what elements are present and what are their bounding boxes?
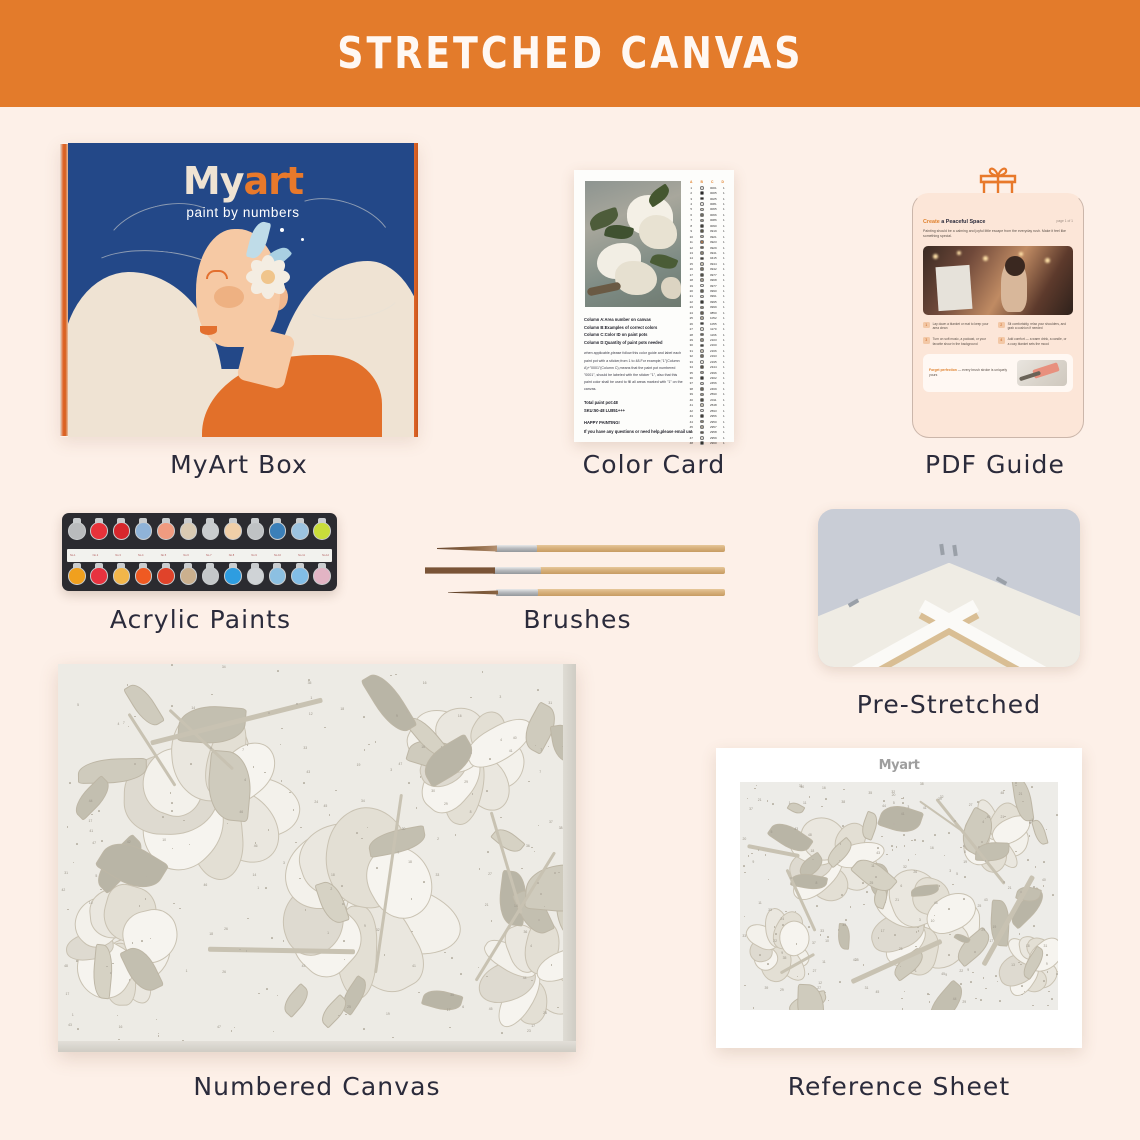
canvas-dot bbox=[908, 859, 910, 861]
canvas-dot bbox=[162, 816, 164, 818]
table-row: 1009211 bbox=[686, 234, 728, 239]
logo-art-text: art bbox=[244, 159, 304, 203]
canvas-dot bbox=[785, 911, 787, 913]
canvas-region-number: 36 bbox=[526, 844, 530, 848]
canvas-region-number: 44 bbox=[89, 799, 93, 803]
canvas-region-number: 17 bbox=[531, 1024, 535, 1028]
canvas-region-number: 7 bbox=[539, 770, 541, 774]
canvas-dot bbox=[76, 843, 78, 845]
canvas-region-number: 43 bbox=[68, 1023, 72, 1027]
canvas-region-number: 44 bbox=[882, 804, 886, 808]
canvas-region-number: 19 bbox=[386, 1012, 390, 1016]
canvas-region-number: 27 bbox=[488, 872, 492, 876]
label-numbered-canvas: Numbered Canvas bbox=[58, 1072, 576, 1101]
table-row: 1809681 bbox=[686, 277, 728, 282]
canvas-dot bbox=[964, 876, 966, 878]
canvas-region-number: 34 bbox=[222, 665, 226, 669]
canvas-dot bbox=[460, 973, 462, 975]
table-row: 1209291 bbox=[686, 245, 728, 250]
canvas-dot bbox=[1035, 866, 1037, 868]
canvas-dot bbox=[995, 975, 997, 977]
canvas-dot bbox=[754, 788, 756, 790]
canvas-dot bbox=[444, 952, 446, 954]
canvas-dot bbox=[985, 988, 987, 990]
canvas-dot bbox=[1021, 985, 1023, 987]
canvas-dot bbox=[69, 782, 71, 784]
paint-pot bbox=[223, 518, 243, 547]
canvas-region-number: 4 bbox=[500, 738, 502, 742]
canvas-dot bbox=[1019, 933, 1021, 935]
canvas-region-number: 21 bbox=[1008, 886, 1012, 890]
canvas-region-number: 4 bbox=[244, 778, 246, 782]
paint-pot bbox=[179, 518, 199, 547]
canvas-dot bbox=[420, 776, 422, 778]
label-pdf-guide: PDF Guide bbox=[870, 450, 1120, 479]
pdf-heading-accent: Create bbox=[923, 219, 940, 225]
pdf-heading-rest: a Peaceful Space bbox=[940, 219, 986, 225]
canvas-dot bbox=[101, 840, 103, 842]
canvas-dot bbox=[554, 872, 556, 874]
canvas-dot bbox=[528, 781, 530, 783]
canvas-dot bbox=[790, 877, 792, 879]
canvas-region-number: 47 bbox=[92, 841, 96, 845]
table-row: 1909771 bbox=[686, 283, 728, 288]
paint-number: No.8 bbox=[229, 554, 234, 557]
canvas-region-number: 46 bbox=[203, 883, 207, 887]
canvas-dot bbox=[902, 802, 904, 804]
table-row: 3523961 bbox=[686, 370, 728, 375]
legend-column-d: Column D:Quantity of paint pots needed bbox=[584, 339, 684, 347]
paint-pot bbox=[312, 518, 332, 547]
canvas-dot bbox=[406, 711, 408, 713]
col-d-header: D bbox=[718, 180, 729, 184]
canvas-region-number: 42 bbox=[61, 888, 65, 892]
canvas-dot bbox=[748, 855, 750, 857]
canvas-region-number: 21 bbox=[1019, 792, 1023, 796]
canvas-dot bbox=[106, 966, 108, 968]
table-row: 400811 bbox=[686, 201, 728, 206]
canvas-dot bbox=[158, 1033, 160, 1035]
canvas-dot bbox=[981, 841, 983, 843]
canvas-region-number: 29 bbox=[981, 928, 985, 932]
canvas-dot bbox=[501, 1032, 503, 1034]
canvas-dot bbox=[896, 846, 898, 848]
tip-number-icon: 1 bbox=[923, 322, 930, 329]
canvas-region-number: 8 bbox=[816, 881, 818, 885]
canvas-region-number: 39 bbox=[938, 797, 942, 801]
col-a-header: A bbox=[686, 180, 697, 184]
canvas-dot bbox=[929, 1001, 931, 1003]
canvas-dot bbox=[296, 703, 298, 705]
canvas-dot bbox=[753, 1007, 755, 1009]
paint-number: No.9 bbox=[251, 554, 256, 557]
canvas-dot bbox=[767, 963, 769, 965]
canvas-region-number: 1 bbox=[915, 969, 917, 973]
canvas-region-number: 11 bbox=[871, 864, 875, 868]
table-row: 500651 bbox=[686, 207, 728, 212]
canvas-region-number: 3 bbox=[949, 869, 951, 873]
canvas-region-number: 38 bbox=[920, 782, 924, 786]
canvas-dot bbox=[375, 741, 377, 743]
canvas-dot bbox=[881, 836, 883, 838]
canvas-dot bbox=[903, 797, 905, 799]
canvas-region-number: 1 bbox=[186, 969, 188, 973]
canvas-dot bbox=[949, 934, 951, 936]
canvas-dot bbox=[975, 998, 977, 1000]
canvas-dot bbox=[928, 994, 930, 996]
canvas-dot bbox=[1031, 786, 1033, 788]
canvas-region-number: 6 bbox=[900, 884, 902, 888]
paint-pot bbox=[312, 563, 332, 592]
canvas-region-number: 45 bbox=[934, 901, 938, 905]
canvas-region-number: 2 bbox=[437, 837, 439, 841]
canvas-region-number: 16 bbox=[119, 1025, 123, 1029]
canvas-dot bbox=[277, 670, 279, 672]
canvas-dot bbox=[980, 999, 982, 1001]
paint-number: No.5 bbox=[161, 554, 166, 557]
canvas-dot bbox=[283, 940, 285, 942]
canvas-region-number: 27 bbox=[817, 986, 821, 990]
canvas-region-number: 2 bbox=[330, 887, 332, 891]
col-b-header: B bbox=[697, 180, 708, 184]
canvas-side-edge bbox=[563, 664, 576, 1052]
paint-pot bbox=[156, 563, 176, 592]
canvas-dot bbox=[765, 854, 767, 856]
canvas-region-number: 38 bbox=[841, 800, 845, 804]
canvas-dot bbox=[883, 800, 885, 802]
canvas-dot bbox=[842, 825, 844, 827]
canvas-region bbox=[421, 987, 463, 1016]
canvas-dot bbox=[828, 1000, 830, 1002]
canvas-region-number: 27 bbox=[1029, 820, 1033, 824]
canvas-dot bbox=[743, 865, 745, 867]
canvas-dot bbox=[277, 995, 279, 997]
table-row: 4529571 bbox=[686, 424, 728, 429]
canvas-region bbox=[123, 679, 165, 730]
canvas-region-number: 14 bbox=[514, 904, 518, 908]
paint-pot bbox=[112, 563, 132, 592]
canvas-dot bbox=[963, 898, 965, 900]
canvas-region-number: 17 bbox=[65, 992, 69, 996]
reference-sheet-image: Myart 4329439432110329118212231198161729… bbox=[716, 748, 1082, 1048]
canvas-dot bbox=[1046, 829, 1048, 831]
canvas-dot bbox=[363, 1028, 365, 1030]
canvas-dot bbox=[1043, 980, 1045, 982]
canvas-dot bbox=[134, 716, 136, 718]
canvas-region-number: 40 bbox=[800, 785, 804, 789]
canvas-region-number: 29 bbox=[962, 1000, 966, 1004]
canvas-region-number: 28 bbox=[543, 1011, 547, 1015]
canvas-dot bbox=[744, 872, 746, 874]
canvas-dot bbox=[751, 853, 753, 855]
canvas-region-number: 10 bbox=[89, 901, 93, 905]
canvas-dot bbox=[408, 782, 410, 784]
canvas-region-number: 41 bbox=[923, 806, 927, 810]
canvas-region-number: 4 bbox=[982, 820, 984, 824]
canvas-region-number: 25 bbox=[899, 947, 903, 951]
canvas-region-number: 4 bbox=[117, 722, 119, 726]
canvas-dot bbox=[1015, 785, 1017, 787]
canvas-dot bbox=[141, 940, 143, 942]
canvas-dot bbox=[904, 845, 906, 847]
tip-number-icon: 4 bbox=[998, 337, 1005, 344]
tip-number-icon: 3 bbox=[923, 337, 930, 344]
canvas-dot bbox=[934, 834, 936, 836]
canvas-region-number: 24 bbox=[780, 917, 784, 921]
page-header: STRETCHED CANVAS bbox=[0, 0, 1140, 107]
canvas-dot bbox=[827, 936, 829, 938]
canvas-region-number: 37 bbox=[812, 941, 816, 945]
table-row: 4125481 bbox=[686, 403, 728, 408]
canvas-region-number: 3 bbox=[283, 861, 285, 865]
canvas-region-number: 21 bbox=[895, 898, 899, 902]
canvas-region-number: 43 bbox=[794, 827, 798, 831]
canvas-region bbox=[279, 983, 313, 1018]
canvas-region-number: 26 bbox=[222, 970, 226, 974]
table-row: 2711701 bbox=[686, 326, 728, 331]
canvas-region-number: 16 bbox=[822, 786, 826, 790]
table-row: 2610551 bbox=[686, 321, 728, 326]
canvas-dot bbox=[537, 882, 539, 884]
color-card-artwork bbox=[585, 181, 681, 307]
canvas-dot bbox=[324, 727, 326, 729]
legend-column-c: Column C:Color ID on paint pots bbox=[584, 331, 684, 339]
canvas-dot bbox=[132, 942, 134, 944]
table-row: 200051 bbox=[686, 190, 728, 195]
canvas-region-number: 46 bbox=[254, 844, 258, 848]
canvas-region-number: 33 bbox=[303, 746, 307, 750]
paint-pot bbox=[89, 563, 109, 592]
canvas-dot bbox=[1046, 954, 1048, 956]
canvas-dot bbox=[825, 798, 827, 800]
legend-column-a: Column A:Area number on canvas bbox=[584, 316, 684, 324]
paint-number: No.3 bbox=[115, 554, 120, 557]
canvas-region-number: 9 bbox=[781, 951, 783, 955]
canvas-region-number: 5 bbox=[893, 801, 895, 805]
label-pre-stretched: Pre-Stretched bbox=[818, 690, 1080, 719]
canvas-region-number: 45 bbox=[489, 1007, 493, 1011]
paint-pot bbox=[67, 518, 87, 547]
canvas-dot bbox=[903, 834, 905, 836]
canvas-dot bbox=[816, 905, 818, 907]
canvas-region-number: 43 bbox=[876, 851, 880, 855]
canvas-dot bbox=[767, 800, 769, 802]
canvas-dot bbox=[538, 919, 540, 921]
canvas-dot bbox=[67, 909, 69, 911]
canvas-dot bbox=[231, 1030, 233, 1032]
canvas-dot bbox=[171, 810, 173, 812]
canvas-dot bbox=[487, 851, 489, 853]
canvas-region-number: 35 bbox=[308, 681, 312, 685]
canvas-region-number: 5 bbox=[956, 872, 958, 876]
canvas-dot bbox=[821, 806, 823, 808]
canvas-region-number: 3 bbox=[919, 918, 921, 922]
canvas-region-number: 12 bbox=[309, 712, 313, 716]
canvas-dot bbox=[295, 842, 297, 844]
label-reference-sheet: Reference Sheet bbox=[716, 1072, 1082, 1101]
canvas-region-number: 41 bbox=[901, 812, 905, 816]
reference-sheet-artwork: 4329439432110329118212231198161729252512… bbox=[740, 782, 1058, 1010]
canvas-region-number: 3 bbox=[499, 695, 501, 699]
table-row: 4020111 bbox=[686, 397, 728, 402]
canvas-region-number: 25 bbox=[978, 904, 982, 908]
canvas-region-number: 9 bbox=[1046, 962, 1048, 966]
canvas-region-number: 8 bbox=[964, 850, 966, 854]
canvas-region-number: 48 bbox=[808, 833, 812, 837]
canvas-region-number: 22 bbox=[773, 939, 777, 943]
paint-number: No.1 bbox=[70, 554, 75, 557]
canvas-region-number: 47 bbox=[217, 1025, 221, 1029]
paint-pot bbox=[134, 563, 154, 592]
canvas-region-number: 43 bbox=[306, 770, 310, 774]
canvas-dot bbox=[451, 957, 453, 959]
figure-lips bbox=[200, 326, 217, 335]
canvas-region-number: 26 bbox=[913, 870, 917, 874]
canvas-region-number: 9 bbox=[396, 714, 398, 718]
canvas-region-number: 18 bbox=[340, 707, 344, 711]
canvas-dot bbox=[1020, 891, 1022, 893]
paint-pot bbox=[246, 518, 266, 547]
legend-column-b: Column B:Examples of correct colors bbox=[584, 324, 684, 332]
canvas-region-number: 41 bbox=[89, 829, 93, 833]
canvas-region-number: 8 bbox=[470, 810, 472, 814]
table-row: 1509441 bbox=[686, 261, 728, 266]
canvas-dot bbox=[901, 798, 903, 800]
canvas-dot bbox=[978, 846, 980, 848]
canvas-region-number: 37 bbox=[749, 807, 753, 811]
canvas-dot bbox=[952, 884, 954, 886]
canvas-region-number: 1 bbox=[72, 1013, 74, 1017]
canvas-region-number: 20 bbox=[892, 793, 896, 797]
canvas-dot bbox=[455, 834, 457, 836]
canvas-dot bbox=[914, 839, 916, 841]
canvas-region-number: 42 bbox=[127, 840, 131, 844]
pdf-photo bbox=[923, 246, 1073, 315]
table-row: 909191 bbox=[686, 229, 728, 234]
canvas-dot bbox=[775, 933, 777, 935]
canvas-dot bbox=[538, 825, 540, 827]
paint-pot bbox=[223, 563, 243, 592]
canvas-dot bbox=[551, 964, 553, 966]
canvas-dot bbox=[281, 728, 283, 730]
canvas-region-number: 35 bbox=[783, 956, 787, 960]
table-row: 4729591 bbox=[686, 435, 728, 440]
table-row: 3221931 bbox=[686, 354, 728, 359]
canvas-region-number: 9 bbox=[945, 973, 947, 977]
canvas-region-number: 34 bbox=[361, 799, 365, 803]
canvas-dot bbox=[268, 712, 270, 714]
canvas-dot bbox=[418, 992, 420, 994]
canvas-dot bbox=[782, 924, 784, 926]
tip-item: 3 Turn on soft music, a podcast, or your… bbox=[923, 337, 998, 346]
canvas-dot bbox=[341, 885, 343, 887]
canvas-region-number: 7 bbox=[540, 748, 542, 752]
canvas-region-number: 40 bbox=[1042, 878, 1046, 882]
canvas-region-number: 30 bbox=[431, 789, 435, 793]
canvas-dot bbox=[423, 881, 425, 883]
table-row: 3925901 bbox=[686, 392, 728, 397]
canvas-dot bbox=[974, 951, 976, 953]
canvas-dot bbox=[960, 847, 962, 849]
canvas-dot bbox=[1047, 1005, 1049, 1007]
tip-text: Turn on soft music, a podcast, or your f… bbox=[933, 337, 994, 346]
canvas-dot bbox=[963, 845, 965, 847]
canvas-dot bbox=[273, 1031, 275, 1033]
table-row: 1109231 bbox=[686, 239, 728, 244]
canvas-region-number: 48 bbox=[1000, 791, 1004, 795]
canvas-dot bbox=[211, 694, 213, 696]
paint-pot bbox=[268, 563, 288, 592]
flower-icon bbox=[244, 253, 292, 301]
canvas-dot bbox=[247, 918, 249, 920]
table-row: 3623021 bbox=[686, 375, 728, 380]
canvas-dot bbox=[77, 1028, 79, 1030]
canvas-region-number: 17 bbox=[447, 1008, 451, 1012]
canvas-dot bbox=[768, 879, 770, 881]
canvas-dot bbox=[343, 940, 345, 942]
brush-detail bbox=[448, 589, 725, 596]
paint-row-bottom bbox=[67, 563, 332, 593]
canvas-dot bbox=[345, 1014, 347, 1016]
color-card-table: A B C D 10001120005130025140081150065160… bbox=[686, 180, 728, 446]
canvas-dot bbox=[91, 814, 93, 816]
canvas-dot bbox=[364, 749, 366, 751]
canvas-dot bbox=[948, 832, 950, 834]
canvas-dot bbox=[820, 934, 822, 936]
myart-box-image: Myart paint by numbers bbox=[60, 143, 418, 437]
table-row: 4629581 bbox=[686, 430, 728, 435]
label-color-card: Color Card bbox=[534, 450, 774, 479]
table-row: 4329561 bbox=[686, 413, 728, 418]
canvas-dot bbox=[1027, 859, 1029, 861]
canvas-dot bbox=[128, 726, 130, 728]
canvas-dot bbox=[772, 803, 774, 805]
canvas-dot bbox=[948, 908, 950, 910]
canvas-region-number: 29 bbox=[464, 780, 468, 784]
canvas-dot bbox=[117, 1015, 119, 1017]
canvas-region-number: 12 bbox=[818, 981, 822, 985]
table-row: 3321951 bbox=[686, 359, 728, 364]
canvas-dot bbox=[902, 1008, 904, 1010]
canvas-dot bbox=[470, 752, 472, 754]
canvas-dot bbox=[271, 937, 273, 939]
canvas-dot bbox=[808, 973, 810, 975]
box-right-edge bbox=[414, 143, 418, 437]
paint-pot bbox=[156, 518, 176, 547]
page-title: STRETCHED CANVAS bbox=[337, 28, 803, 79]
canvas-dot bbox=[1032, 1005, 1034, 1007]
canvas-region-number: 21 bbox=[758, 798, 762, 802]
contact-text: If you have any questions or need help,p… bbox=[584, 428, 684, 435]
happy-painting-text: HAPPY PAINTING! bbox=[584, 419, 684, 426]
canvas-dot bbox=[944, 855, 946, 857]
tip-number-icon: 2 bbox=[998, 322, 1005, 329]
canvas-region-number: 18 bbox=[1026, 944, 1030, 948]
sparkle-dot bbox=[301, 238, 304, 241]
pre-stretched-image bbox=[818, 509, 1080, 667]
canvas-dot bbox=[156, 1019, 158, 1021]
canvas-dot bbox=[234, 1027, 236, 1029]
canvas-dot bbox=[916, 931, 918, 933]
canvas-region-number: 7 bbox=[397, 851, 399, 855]
canvas-dot bbox=[977, 801, 979, 803]
canvas-region-number: 17 bbox=[89, 819, 93, 823]
canvas-dot bbox=[1052, 894, 1054, 896]
canvas-region-number: 45 bbox=[323, 804, 327, 808]
canvas-dot bbox=[129, 979, 131, 981]
canvas-region-number: 45 bbox=[941, 972, 945, 976]
paint-number: No.10 bbox=[274, 554, 281, 557]
